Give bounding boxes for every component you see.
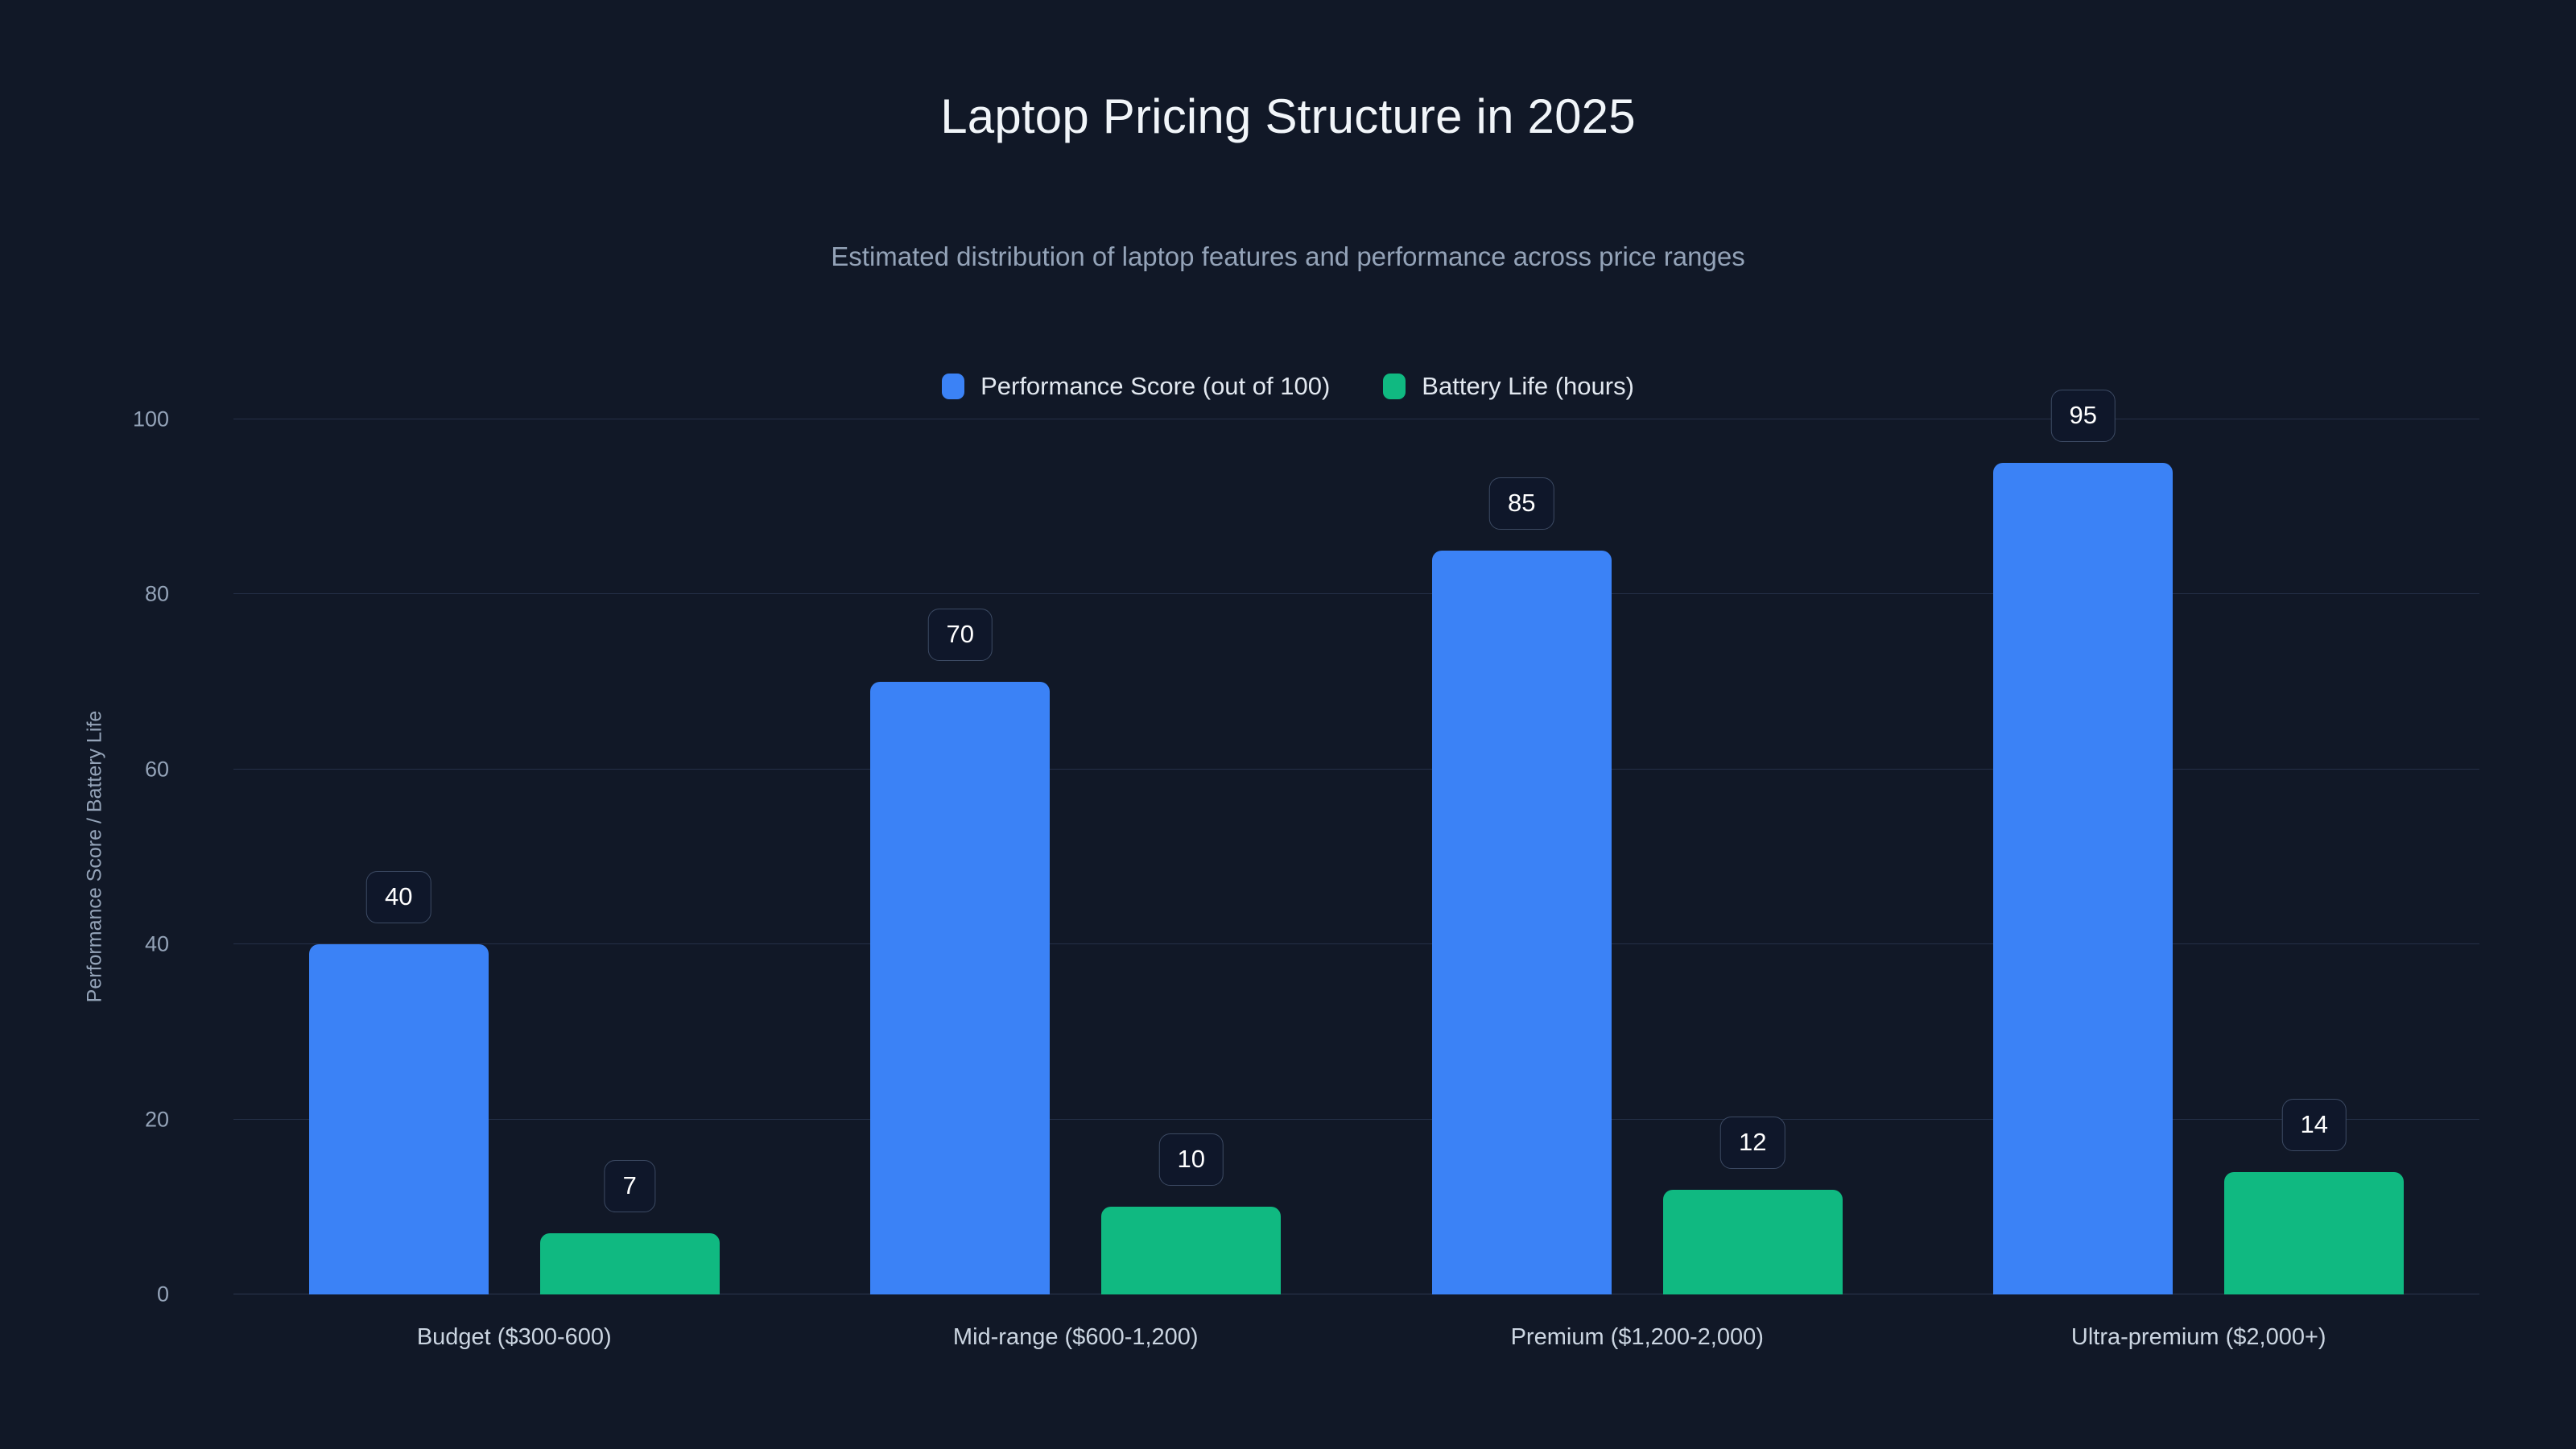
chart-legend: Performance Score (out of 100)Battery Li… <box>0 372 2576 401</box>
bar[interactable] <box>540 1233 720 1294</box>
legend-item-label: Battery Life (hours) <box>1422 372 1634 401</box>
gridline <box>233 419 2479 419</box>
bar-value-label: 85 <box>1489 477 1554 530</box>
y-axis-title: Performance Score / Battery Life <box>84 711 107 1003</box>
legend-swatch-icon <box>942 374 964 399</box>
bar-value-label: 10 <box>1159 1133 1224 1186</box>
chart-title: Laptop Pricing Structure in 2025 <box>0 89 2576 144</box>
legend-item-label: Performance Score (out of 100) <box>980 372 1330 401</box>
bar-value-label: 14 <box>2282 1099 2347 1151</box>
chart-subtitle: Estimated distribution of laptop feature… <box>0 242 2576 272</box>
bar-value-label: 70 <box>928 609 993 661</box>
bar[interactable] <box>309 944 489 1294</box>
bar[interactable] <box>2224 1172 2404 1294</box>
chart-container: Laptop Pricing Structure in 2025 Estimat… <box>0 0 2576 1449</box>
y-axis-tick-label: 40 <box>145 932 169 957</box>
y-axis-tick-label: 20 <box>145 1107 169 1132</box>
plot-area: 407701085129514 <box>233 419 2479 1294</box>
bar-value-label: 12 <box>1720 1117 1785 1169</box>
x-axis-category-label: Premium ($1,200-2,000) <box>1511 1324 1764 1351</box>
bar[interactable] <box>1432 551 1612 1294</box>
bar[interactable] <box>870 682 1050 1294</box>
x-axis-category-label: Budget ($300-600) <box>417 1324 612 1351</box>
y-axis-tick-label: 60 <box>145 757 169 782</box>
legend-item[interactable]: Battery Life (hours) <box>1383 372 1634 401</box>
x-axis-category-label: Ultra-premium ($2,000+) <box>2071 1324 2326 1351</box>
legend-swatch-icon <box>1383 374 1406 399</box>
y-axis-tick-label: 100 <box>133 407 169 432</box>
legend-item[interactable]: Performance Score (out of 100) <box>942 372 1330 401</box>
bar-value-label: 40 <box>366 871 431 923</box>
bar-value-label: 7 <box>605 1160 655 1212</box>
bar[interactable] <box>1663 1190 1843 1294</box>
y-axis-tick-label: 0 <box>157 1282 169 1307</box>
bar[interactable] <box>1101 1207 1281 1294</box>
y-axis-tick-label: 80 <box>145 582 169 607</box>
bar[interactable] <box>1993 463 2173 1294</box>
x-axis-category-label: Mid-range ($600-1,200) <box>953 1324 1199 1351</box>
x-axis-category-labels: Budget ($300-600)Mid-range ($600-1,200)P… <box>233 1324 2479 1373</box>
